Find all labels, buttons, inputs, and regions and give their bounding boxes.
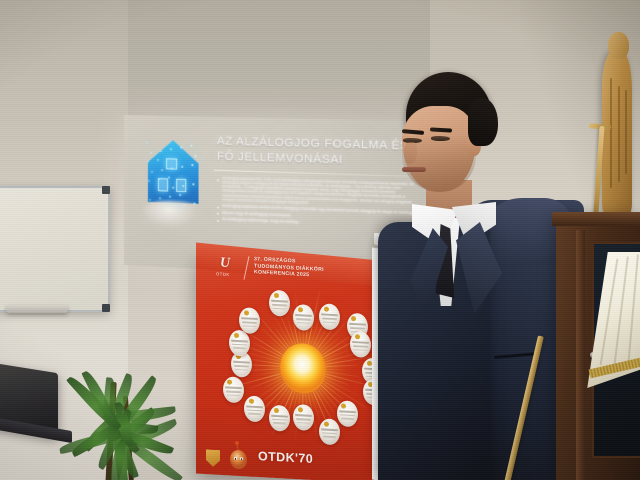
eye xyxy=(431,136,450,141)
banner-badge xyxy=(293,304,314,331)
statue-drapery-fold xyxy=(610,78,612,188)
banner-badge xyxy=(244,395,265,422)
house-shape xyxy=(148,140,199,204)
otdk-logo-icon: U OTDK xyxy=(216,255,242,282)
house-window-icon xyxy=(158,178,168,191)
hologram-particle xyxy=(194,155,196,157)
cabinet-stile xyxy=(576,230,585,480)
potted-plant xyxy=(56,296,206,480)
banner-badge xyxy=(293,404,314,431)
banner-badge xyxy=(350,331,371,358)
hair-side xyxy=(468,98,498,146)
banner-badge xyxy=(319,304,340,331)
bullet-dot-icon xyxy=(217,213,219,215)
banner-badge xyxy=(269,404,290,431)
hologram-particle xyxy=(146,142,148,144)
bullet-dot-icon xyxy=(217,220,219,222)
whiteboard xyxy=(0,186,110,312)
banner-badge xyxy=(239,307,260,334)
statue-head xyxy=(608,32,629,59)
banner-badge xyxy=(269,290,290,317)
mascot-head xyxy=(230,450,247,470)
statue-drapery-fold xyxy=(618,86,620,182)
bullet-dot-icon xyxy=(217,206,219,208)
open-hand xyxy=(140,200,205,233)
hologram-particle xyxy=(150,152,152,154)
cabinet-cornice xyxy=(552,212,640,226)
house-window-icon xyxy=(176,179,186,192)
bullet-dot-icon xyxy=(217,179,219,181)
banner-badge xyxy=(337,400,358,427)
mascot-icon xyxy=(228,443,250,470)
statue-drapery-fold xyxy=(625,90,627,174)
banner-badge xyxy=(319,418,340,445)
hologram-particle xyxy=(190,145,192,147)
digital-house-icon xyxy=(142,137,205,230)
otdk-wordmark: OTDK xyxy=(216,271,230,277)
mouth xyxy=(402,167,426,172)
whiteboard-corner xyxy=(102,186,110,194)
speaker xyxy=(382,72,578,480)
banner-title-block: 37. ORSZÁGOS TUDOMÁNYOS DIÁKKÖRI KONFERE… xyxy=(254,256,324,279)
statue-body xyxy=(602,50,632,216)
otdk-anniversary-text: OTDK'70 xyxy=(258,449,313,466)
otdk-glyph: U xyxy=(220,255,230,272)
banner-badge xyxy=(223,376,244,403)
presentation-scene: AZ ALZÁLOGJOG FOGALMA ÉS FŐ JELLEMVONÁSA… xyxy=(0,0,640,480)
justitia-statue xyxy=(592,28,640,228)
flag-fold xyxy=(627,254,639,368)
